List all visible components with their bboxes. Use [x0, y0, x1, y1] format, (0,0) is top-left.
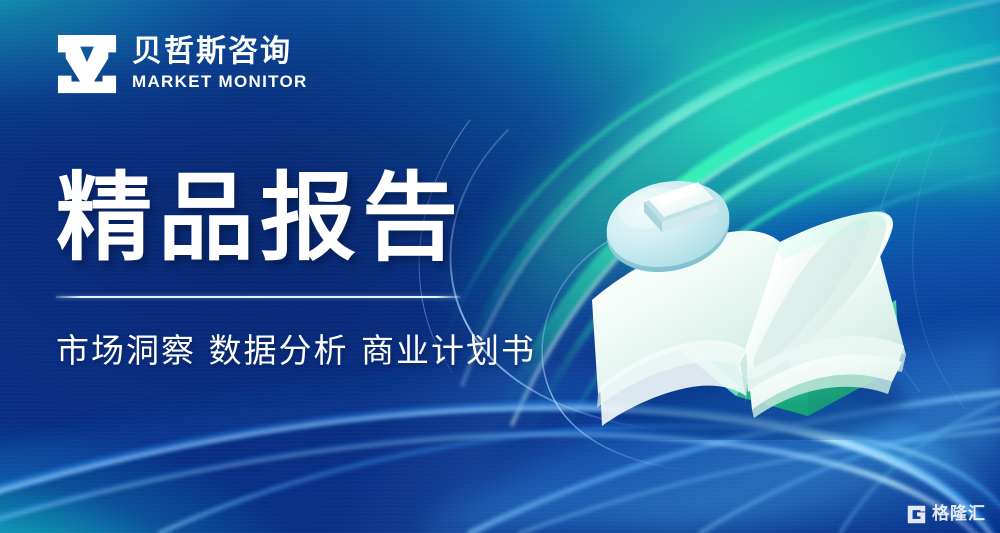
page-subtitle: 市场洞察 数据分析 商业计划书 [56, 324, 536, 372]
curled-page-icon [739, 212, 893, 379]
bookmark-icon [644, 182, 718, 232]
page-icon [592, 231, 780, 394]
gelonghui-g-logo-icon [906, 504, 927, 525]
disc-icon [599, 170, 738, 283]
open-book-3d-illustration [540, 150, 940, 440]
book-cover-icon [658, 300, 900, 416]
brand-name-cn: 贝哲斯咨询 [132, 36, 308, 68]
brand-logo-text: 贝哲斯咨询 MARKET MONITOR [132, 34, 308, 94]
brand-name-en: MARKET MONITOR [132, 71, 308, 94]
title-divider [56, 296, 460, 298]
page-icon [768, 245, 906, 366]
watermark: 格隆汇 [906, 504, 986, 525]
page-title: 精品报告 [56, 168, 536, 270]
watermark-text: 格隆汇 [932, 506, 986, 523]
market-monitor-m-logo-icon [56, 33, 118, 95]
report-banner: 贝哲斯咨询 MARKET MONITOR 精品报告 市场洞察 数据分析 商业计划… [0, 0, 1000, 533]
brand-logo[interactable]: 贝哲斯咨询 MARKET MONITOR [56, 33, 308, 95]
headline-block: 精品报告 市场洞察 数据分析 商业计划书 [56, 168, 536, 372]
